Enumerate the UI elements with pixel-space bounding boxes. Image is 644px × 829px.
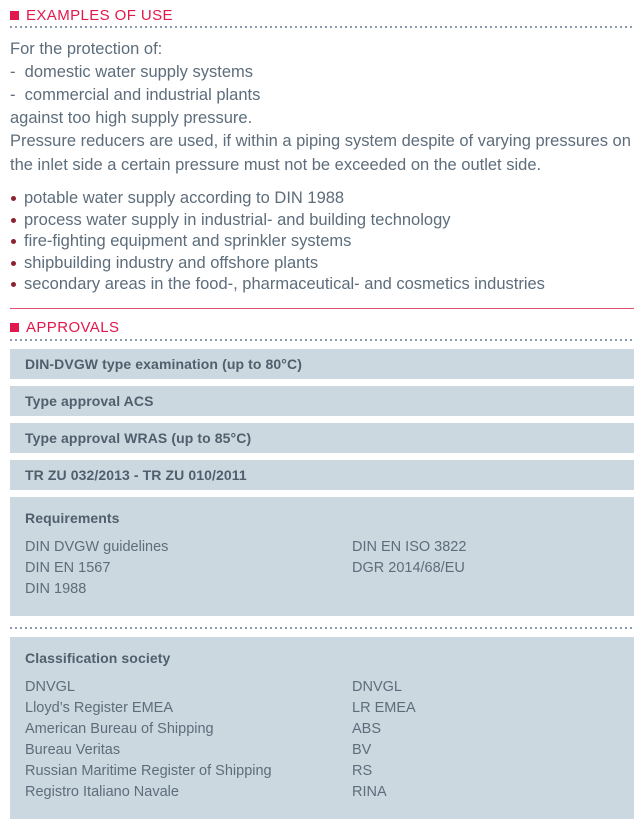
society-name: Bureau Veritas <box>25 740 352 761</box>
examples-section-header: EXAMPLES OF USE <box>0 4 644 26</box>
society-abbr: BV <box>352 740 619 761</box>
datasheet-page: EXAMPLES OF USE For the protection of: -… <box>0 0 644 829</box>
intro-line: For the protection of: <box>10 38 634 61</box>
society-abbr: RS <box>352 761 619 782</box>
requirement-code: DIN EN ISO 3822 <box>352 537 619 558</box>
classification-panel: Classification society DNVGL DNVGL Lloyd… <box>10 637 634 819</box>
approval-row: TR ZU 032/2013 - TR ZU 010/2011 <box>10 460 634 490</box>
requirement-name: DIN 1988 <box>25 579 352 600</box>
society-abbr: DNVGL <box>352 677 619 698</box>
list-item: secondary areas in the food-, pharmaceut… <box>10 274 634 296</box>
society-name: American Bureau of Shipping <box>25 719 352 740</box>
requirements-panel: Requirements DIN DVGW guidelines DIN EN … <box>10 497 634 616</box>
approval-label: Type approval WRAS (up to 85°C) <box>25 430 251 446</box>
requirements-rows: DIN DVGW guidelines DIN EN ISO 3822 DIN … <box>25 537 619 600</box>
table-row: Lloyd’s Register EMEA LR EMEA <box>25 698 619 719</box>
approvals-list: DIN-DVGW type examination (up to 80°C) T… <box>0 349 644 819</box>
society-abbr: RINA <box>352 782 619 803</box>
examples-section-title: EXAMPLES OF USE <box>26 8 173 23</box>
society-name: DNVGL <box>25 677 352 698</box>
society-name: Lloyd’s Register EMEA <box>25 698 352 719</box>
approval-label: Type approval ACS <box>25 393 154 409</box>
table-row: Registro Italiano Navale RINA <box>25 782 619 803</box>
square-marker-icon <box>10 11 19 20</box>
examples-paragraph: Pressure reducers are used, if within a … <box>10 130 634 177</box>
classification-title: Classification society <box>25 650 619 666</box>
requirements-title: Requirements <box>25 510 619 526</box>
approval-label: DIN-DVGW type examination (up to 80°C) <box>25 356 302 372</box>
approval-row: DIN-DVGW type examination (up to 80°C) <box>10 349 634 379</box>
list-item: shipbuilding industry and offshore plant… <box>10 253 634 275</box>
table-row: DIN DVGW guidelines DIN EN ISO 3822 <box>25 537 619 558</box>
requirement-code: DGR 2014/68/EU <box>352 558 619 579</box>
examples-bottom-spacer <box>0 296 644 308</box>
intro-line: - commercial and industrial plants <box>10 84 634 107</box>
approvals-list-spacer <box>0 341 644 349</box>
classification-top-spacer <box>10 629 634 637</box>
list-item: process water supply in industrial- and … <box>10 210 634 232</box>
requirement-code <box>352 579 619 600</box>
approvals-section-header: APPROVALS <box>0 317 644 339</box>
society-name: Russian Maritime Register of Shipping <box>25 761 352 782</box>
requirement-name: DIN DVGW guidelines <box>25 537 352 558</box>
list-item: fire-fighting equipment and sprinkler sy… <box>10 231 634 253</box>
classification-rows: DNVGL DNVGL Lloyd’s Register EMEA LR EME… <box>25 677 619 803</box>
table-row: American Bureau of Shipping ABS <box>25 719 619 740</box>
examples-bullet-list: potable water supply according to DIN 19… <box>0 188 644 296</box>
requirement-name: DIN EN 1567 <box>25 558 352 579</box>
table-row: Bureau Veritas BV <box>25 740 619 761</box>
society-name: Registro Italiano Navale <box>25 782 352 803</box>
list-item: potable water supply according to DIN 19… <box>10 188 634 210</box>
approvals-section-title: APPROVALS <box>26 320 119 335</box>
table-row: DIN EN 1567 DGR 2014/68/EU <box>25 558 619 579</box>
table-row: DIN 1988 <box>25 579 619 600</box>
approval-row: Type approval ACS <box>10 386 634 416</box>
approvals-head-spacer <box>0 309 644 317</box>
intro-line: - domestic water supply systems <box>10 61 634 84</box>
approval-label: TR ZU 032/2013 - TR ZU 010/2011 <box>25 467 247 483</box>
intro-line: against too high supply pressure. <box>10 107 634 130</box>
square-marker-icon <box>10 323 19 332</box>
society-abbr: ABS <box>352 719 619 740</box>
table-row: Russian Maritime Register of Shipping RS <box>25 761 619 782</box>
society-abbr: LR EMEA <box>352 698 619 719</box>
table-row: DNVGL DNVGL <box>25 677 619 698</box>
approval-row: Type approval WRAS (up to 85°C) <box>10 423 634 453</box>
examples-intro-block: For the protection of: - domestic water … <box>0 28 644 177</box>
